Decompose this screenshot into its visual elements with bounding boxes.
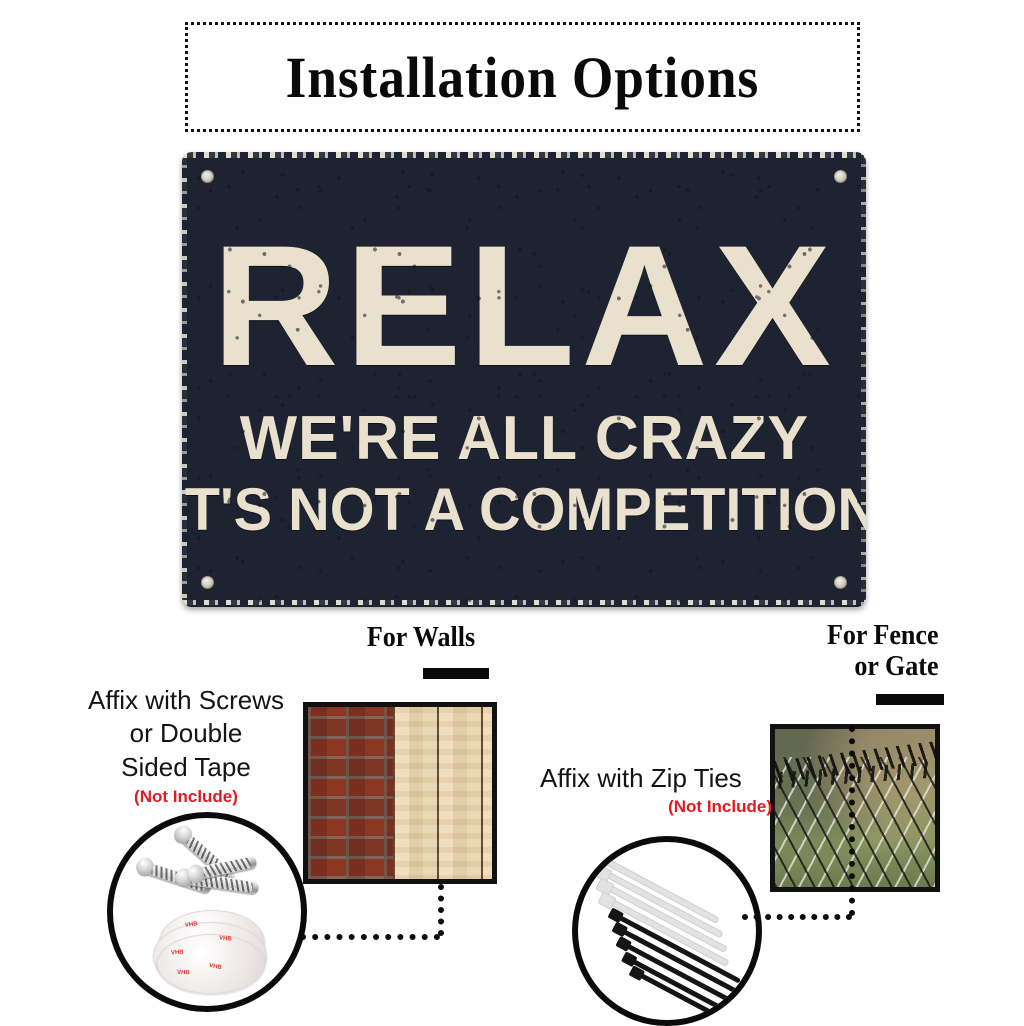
metal-sign-product-image: RELAX WE'RE ALL CRAZY IT'S NOT A COMPETI… [182, 152, 866, 607]
section-rule-walls [423, 668, 489, 679]
section-rule-fence [876, 694, 944, 705]
screws-and-tape-illustration: VHB VHB VHB VHB VHB [107, 812, 307, 1012]
screw-hole-bottom-right [834, 576, 847, 589]
sign-subline-2: IT'S NOT A COMPETITION [182, 480, 866, 540]
wall-photo [303, 702, 497, 884]
fence-photo [770, 724, 940, 892]
sign-subline-1: WE'RE ALL CRAZY [239, 408, 808, 470]
zip-tie-head [615, 936, 632, 952]
walls-caption-line-3: Sided Tape [62, 751, 310, 784]
sign-face: RELAX WE'RE ALL CRAZY IT'S NOT A COMPETI… [182, 152, 866, 607]
connector-fence-vertical [849, 726, 855, 916]
zip-ties-illustration [572, 836, 762, 1026]
connector-walls-vertical [438, 884, 444, 936]
fence-not-included-note: (Not Include) [540, 796, 772, 818]
connector-walls-horizontal [300, 934, 440, 940]
fence-caption: Affix with Zip Ties (Not Include) [540, 762, 772, 818]
tape-brand-mark: VHB [171, 950, 184, 957]
page-title-box: Installation Options [185, 22, 860, 132]
walls-caption-line-2: or Double [62, 717, 310, 750]
fence-caption-line-1: Affix with Zip Ties [540, 762, 772, 795]
walls-caption-line-1: Affix with Screws [62, 684, 310, 717]
screw-hole-bottom-left [201, 576, 214, 589]
connector-fence-horizontal [742, 914, 852, 920]
sign-headline: RELAX [211, 220, 836, 392]
page-title: Installation Options [286, 44, 760, 111]
wood-plank-texture [393, 707, 492, 879]
section-heading-fence-line-2: or Gate [766, 651, 938, 682]
section-heading-fence-line-1: For Fence [766, 620, 938, 651]
screw-hole-top-left [201, 170, 214, 183]
section-heading-fence: For Fence or Gate [766, 620, 938, 683]
brick-texture [308, 707, 393, 879]
tape-brand-mark: VHB [177, 970, 190, 976]
zip-tie-head [621, 951, 638, 967]
walls-not-included-note: (Not Include) [62, 786, 310, 808]
sign-text-block: RELAX WE'RE ALL CRAZY IT'S NOT A COMPETI… [182, 152, 866, 607]
walls-caption: Affix with Screws or Double Sided Tape (… [62, 684, 310, 808]
tape-brand-mark: VHB [219, 935, 232, 942]
screw-hole-top-right [834, 170, 847, 183]
section-heading-walls: For Walls [347, 622, 496, 653]
